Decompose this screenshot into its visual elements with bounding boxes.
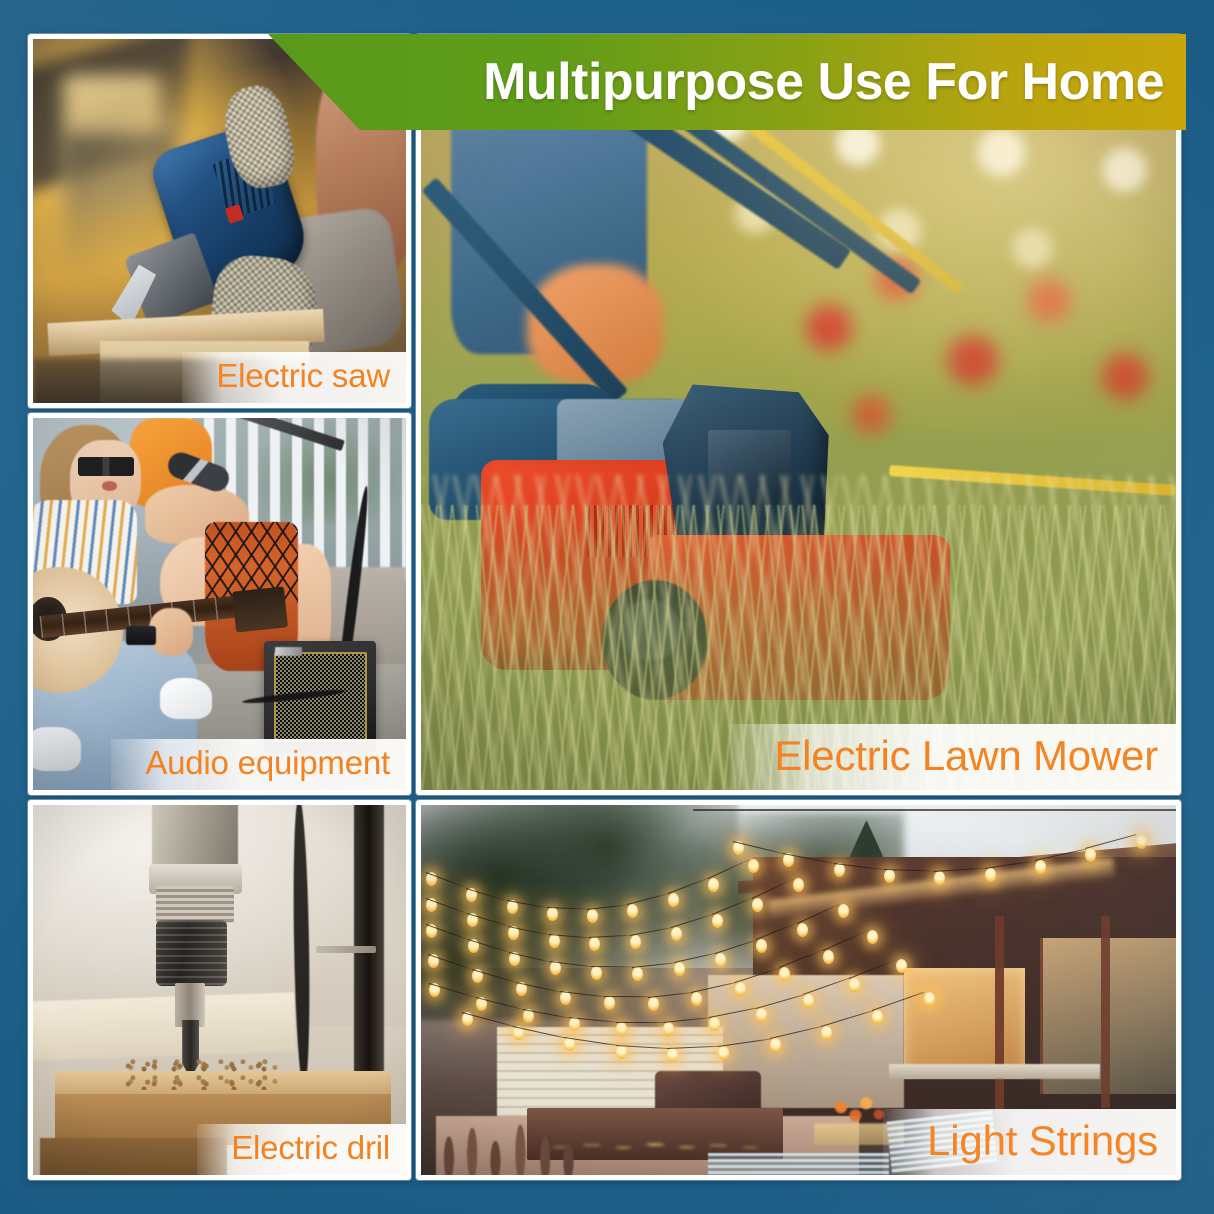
light-bulb-icon xyxy=(1136,835,1147,849)
decor-sun-haze xyxy=(421,39,1176,790)
caption-electric-drill: Electric dril xyxy=(197,1124,406,1175)
caption-audio-equipment: Audio equipment xyxy=(111,739,406,790)
caption-light-strings: Light Strings xyxy=(883,1109,1176,1175)
decor-drill-column xyxy=(354,805,384,1101)
decor-drill-quill xyxy=(152,805,238,872)
light-bulb-icon xyxy=(735,982,746,996)
tile-light-strings[interactable]: Light Strings xyxy=(416,800,1181,1180)
light-bulb-icon xyxy=(1035,860,1046,874)
light-bulb-icon xyxy=(547,907,558,921)
decor-window-frame xyxy=(1101,916,1110,1108)
light-bulb-icon xyxy=(663,1022,674,1036)
light-bulb-icon xyxy=(648,997,659,1011)
decor-sawdust xyxy=(123,1057,280,1090)
light-bulb-icon xyxy=(849,978,860,992)
decor-sneaker xyxy=(33,727,81,772)
scene-audio-equipment xyxy=(33,418,406,790)
light-bulb-icon xyxy=(549,934,560,948)
scene-electric-drill xyxy=(33,805,406,1175)
decor-guitar-headstock xyxy=(232,586,288,632)
page-title: Multipurpose Use For Home xyxy=(483,52,1164,112)
light-bulb-icon xyxy=(616,1045,627,1059)
light-bulb-icon xyxy=(560,991,571,1005)
light-bulb-icon xyxy=(691,992,702,1006)
caption-electric-lawn-mower: Electric Lawn Mower xyxy=(730,724,1176,790)
light-bulb-icon xyxy=(985,868,996,882)
light-bulb-icon xyxy=(924,992,935,1006)
light-bulb-icon xyxy=(803,994,814,1008)
tile-audio-equipment[interactable]: Audio equipment xyxy=(28,413,411,795)
light-bulb-icon xyxy=(770,1038,781,1052)
light-bulb-icon xyxy=(712,914,723,928)
light-bulb-icon xyxy=(674,962,685,976)
light-bulb-icon xyxy=(838,904,849,918)
decor-window-frame xyxy=(995,916,1004,1116)
light-bulb-icon xyxy=(668,893,679,907)
sunglasses-icon xyxy=(78,457,134,476)
light-bulb-icon xyxy=(671,927,682,941)
light-bulb-icon xyxy=(715,953,726,967)
decor-background-board xyxy=(33,993,295,1062)
decor-cactus xyxy=(429,1123,595,1175)
scene-electric-lawn-mower xyxy=(421,39,1176,790)
light-bulb-icon xyxy=(834,863,845,877)
light-bulb-icon xyxy=(587,909,598,923)
light-bulb-icon xyxy=(616,1022,627,1036)
light-bulb-icon xyxy=(867,930,878,944)
tile-electric-lawn-mower[interactable]: Electric Lawn Mower xyxy=(416,34,1181,795)
light-bulb-icon xyxy=(823,950,834,964)
decor-threaded-sleeve xyxy=(156,886,234,923)
image-canvas: Electric saw xyxy=(0,0,1214,1214)
decor-lips xyxy=(102,481,117,490)
headline-banner: Multipurpose Use For Home xyxy=(268,34,1186,130)
decor-sneaker xyxy=(160,678,212,719)
light-bulb-icon xyxy=(604,996,615,1010)
light-bulb-icon xyxy=(896,959,907,973)
light-bulb-icon xyxy=(797,923,808,937)
light-bulb-icon xyxy=(756,1008,767,1022)
decor-depth-rod xyxy=(316,946,376,953)
decor-lit-window xyxy=(904,968,1025,1079)
light-bulb-icon xyxy=(752,898,763,912)
tile-electric-drill[interactable]: Electric dril xyxy=(28,800,411,1180)
decor-trees xyxy=(421,805,738,1020)
decor-patio-chair xyxy=(708,1153,889,1175)
drill-chuck-icon xyxy=(156,920,227,987)
decor-wristwatch xyxy=(126,626,156,645)
decor-amp-logo xyxy=(275,647,301,656)
light-bulb-icon xyxy=(708,878,719,892)
caption-electric-saw: Electric saw xyxy=(182,352,406,403)
feature-grid: Electric saw xyxy=(28,34,1186,1180)
decor-counter xyxy=(889,1064,1100,1079)
